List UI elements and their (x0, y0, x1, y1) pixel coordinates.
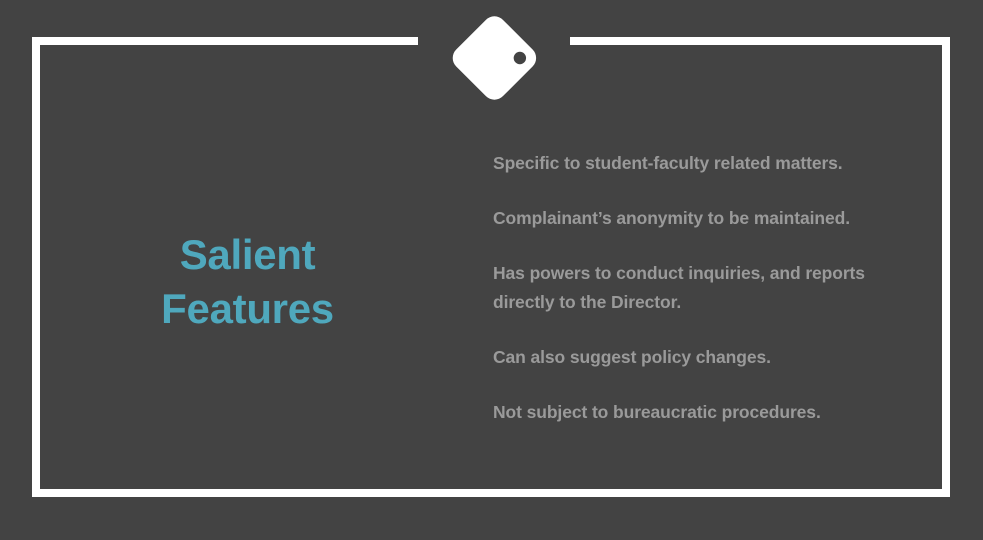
tag-icon (443, 8, 543, 108)
list-item: Can also suggest policy changes. (493, 343, 923, 371)
frame-top-left-segment (32, 37, 418, 45)
frame-bottom-segment (32, 489, 950, 497)
list-item: Specific to student-faculty related matt… (493, 149, 923, 177)
title-line-2: Features (60, 282, 435, 336)
list-item: Not subject to bureaucratic procedures. (493, 398, 923, 426)
page-title: Salient Features (60, 228, 435, 336)
slide-canvas: Salient Features Specific to student-fac… (0, 0, 983, 540)
list-item: Complainant’s anonymity to be maintained… (493, 204, 923, 232)
frame-right-segment (942, 37, 950, 497)
title-line-1: Salient (60, 228, 435, 282)
list-item: Has powers to conduct inquiries, and rep… (493, 259, 923, 316)
feature-list: Specific to student-faculty related matt… (493, 131, 923, 427)
frame-left-segment (32, 37, 40, 497)
frame-top-right-segment (570, 37, 950, 45)
